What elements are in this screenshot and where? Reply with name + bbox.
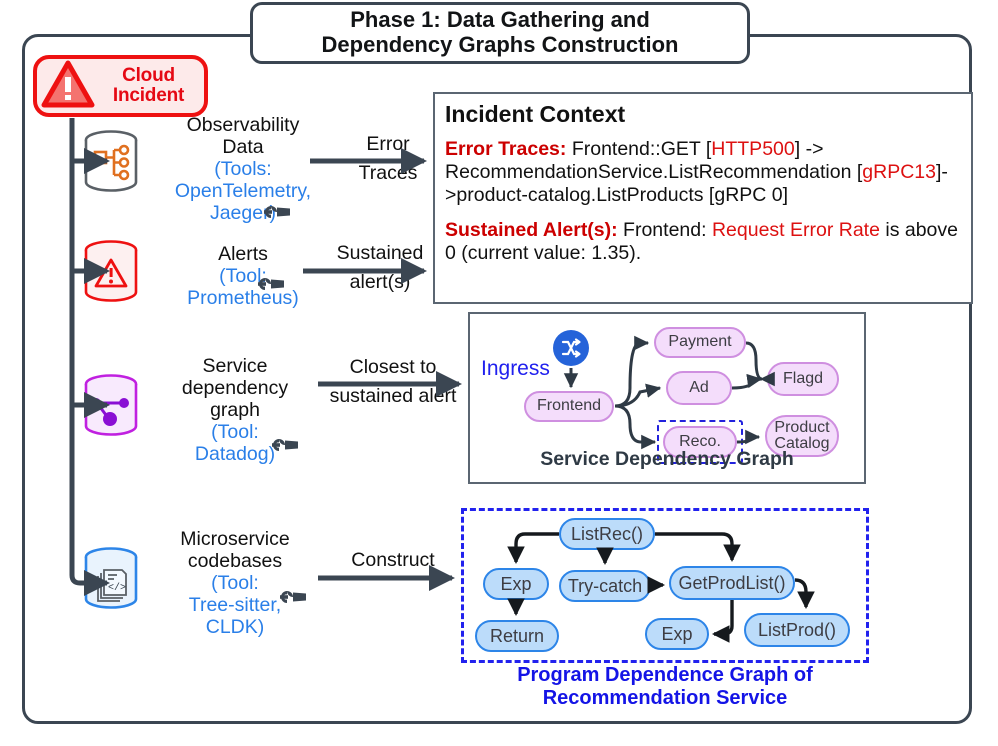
arrow-label-top: Error xyxy=(366,133,409,155)
incident-context-heading: Incident Context xyxy=(445,101,961,128)
observability-label-line2: Data xyxy=(222,136,263,158)
node-label: ListRec() xyxy=(571,525,643,543)
arrow-label-top: Construct xyxy=(351,549,434,571)
node-label: Exp xyxy=(661,625,692,643)
arrow-label-closest: Closest to xyxy=(318,357,468,379)
arrow-label-bottom: sustained alert xyxy=(330,385,457,407)
page-title: Phase 1: Data Gathering and Dependency G… xyxy=(250,2,750,64)
sdg-node-payment[interactable]: Payment xyxy=(654,327,746,358)
arrow-label-construct: Construct xyxy=(318,550,468,572)
node-label: Return xyxy=(490,627,544,645)
node-label: Flagd xyxy=(783,371,823,387)
warning-triangle-icon xyxy=(41,59,95,114)
pdg-node-getprodlist[interactable]: GetProdList() xyxy=(669,566,795,600)
wrench-icon[interactable] xyxy=(263,203,291,221)
cloud-incident-line1: Cloud xyxy=(122,65,175,86)
arrow-label-bottom: Traces xyxy=(359,162,418,184)
sdg-label-line3: graph xyxy=(210,399,260,421)
arrow-label-top: Sustained xyxy=(337,242,424,264)
node-label: GetProdList() xyxy=(678,574,785,592)
wrench-icon[interactable] xyxy=(271,436,299,454)
sustained-alert-seg1: Frontend: xyxy=(618,219,712,241)
pdg-node-exp2[interactable]: Exp xyxy=(645,618,709,650)
error-traces-paragraph: Error Traces: Frontend::GET [HTTP500] ->… xyxy=(445,138,961,207)
page-title-line2: Dependency Graphs Construction xyxy=(322,33,679,58)
sdg-node-frontend[interactable]: Frontend xyxy=(524,391,614,422)
node-label: Ad xyxy=(689,380,709,396)
sdg-tool-line2: Datadog) xyxy=(140,443,330,465)
node-label: Frontend xyxy=(537,398,601,414)
incident-context-panel: Incident Context Error Traces: Frontend:… xyxy=(433,92,973,304)
service-dependency-graph-label: Service dependency graph (Tool: Datadog) xyxy=(140,355,330,465)
arrow-label-top: Closest to xyxy=(350,356,437,378)
cloud-incident-label: Cloud Incident xyxy=(95,66,204,106)
node-label: Exp xyxy=(500,575,531,593)
observability-data-label: Observability Data (Tools: OpenTelemetry… xyxy=(148,114,338,224)
alerts-label-line1: Alerts xyxy=(218,243,268,265)
database-hierarchy-icon[interactable] xyxy=(78,128,144,194)
sdg-caption: Service Dependency Graph xyxy=(468,448,866,471)
pdg-caption-line1: Program Dependence Graph of xyxy=(517,664,813,686)
ingress-label: Ingress xyxy=(481,357,550,381)
sustained-alert-paragraph: Sustained Alert(s): Frontend: Request Er… xyxy=(445,219,961,265)
pdg-node-exp1[interactable]: Exp xyxy=(483,568,549,600)
codebases-tool-line3: CLDK) xyxy=(140,616,330,638)
node-label: Payment xyxy=(668,334,731,350)
sdg-tool-line1: (Tool: xyxy=(140,421,330,443)
node-label: Try-catch xyxy=(568,577,642,595)
diagram-canvas: Phase 1: Data Gathering and Dependency G… xyxy=(0,0,998,746)
node-label: ListProd() xyxy=(758,621,836,639)
observability-label-line1: Observability xyxy=(187,114,300,136)
codebases-label-line1: Microservice xyxy=(180,528,289,550)
page-title-line1: Phase 1: Data Gathering and xyxy=(350,8,650,33)
microservice-codebases-label: Microservice codebases (Tool: Tree-sitte… xyxy=(140,528,330,638)
error-traces-code2: gRPC13 xyxy=(862,161,936,183)
database-graph-icon[interactable] xyxy=(78,372,144,438)
sdg-label-line1: Service xyxy=(202,355,267,377)
error-traces-label: Error Traces: xyxy=(445,138,566,160)
node-label-line1: Product xyxy=(774,420,829,436)
svg-text:</>: </> xyxy=(108,582,126,594)
pdg-caption-line2: Recommendation Service xyxy=(543,687,788,709)
sdg-node-flagd[interactable]: Flagd xyxy=(767,362,839,396)
arrow-label-closest-2: sustained alert xyxy=(318,386,468,408)
pdg-node-trycatch[interactable]: Try-catch xyxy=(559,570,651,602)
cloud-incident-line2: Incident xyxy=(113,85,184,106)
cloud-incident-badge[interactable]: Cloud Incident xyxy=(33,55,208,117)
observability-tool-line1: (Tools: xyxy=(148,158,338,180)
wrench-icon[interactable] xyxy=(279,588,307,606)
database-alert-icon[interactable] xyxy=(78,238,144,304)
wrench-icon[interactable] xyxy=(257,275,285,293)
database-code-icon[interactable]: </> xyxy=(78,545,144,611)
sdg-label-line2: dependency xyxy=(182,377,288,399)
shuffle-icon[interactable] xyxy=(553,330,589,366)
observability-tool-line3: Jaeger) xyxy=(148,202,338,224)
error-traces-seg1: Frontend::GET [ xyxy=(566,138,711,160)
sustained-alert-label: Sustained Alert(s): xyxy=(445,219,618,241)
sustained-alert-code1: Request Error Rate xyxy=(712,219,880,241)
pdg-caption: Program Dependence Graph of Recommendati… xyxy=(440,664,890,710)
codebases-label-line2: codebases xyxy=(188,550,282,572)
error-traces-code1: HTTP500 xyxy=(711,138,794,160)
arrow-label-bottom: alert(s) xyxy=(350,271,411,293)
observability-tool-line2: OpenTelemetry, xyxy=(148,180,338,202)
pdg-node-listprod[interactable]: ListProd() xyxy=(744,613,850,647)
pdg-node-return[interactable]: Return xyxy=(475,620,559,652)
sdg-node-ad[interactable]: Ad xyxy=(666,371,732,405)
pdg-node-listrec[interactable]: ListRec() xyxy=(559,518,655,550)
